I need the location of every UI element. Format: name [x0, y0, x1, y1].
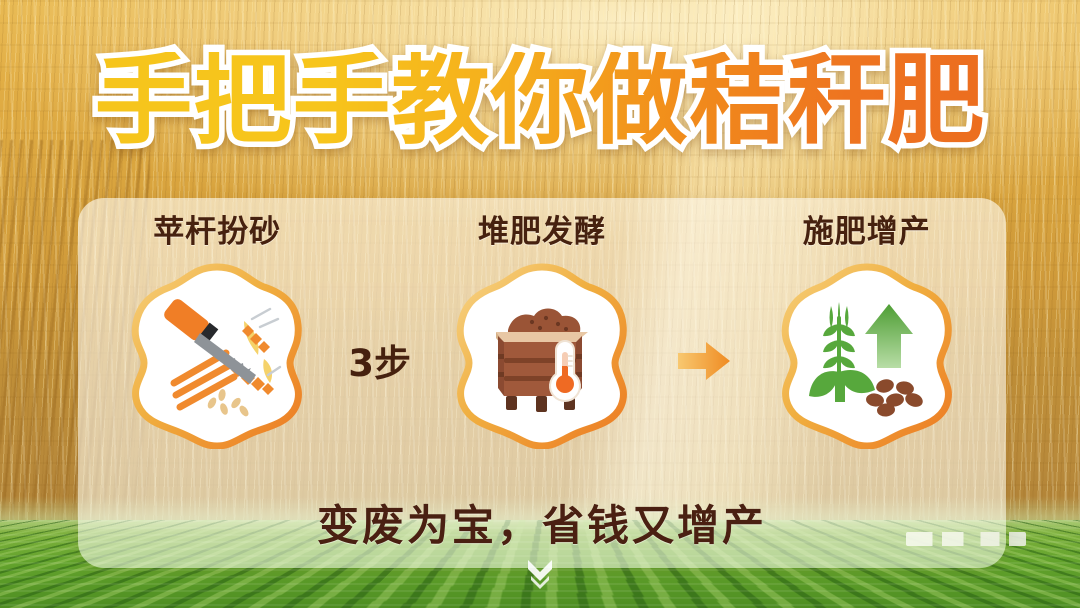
wheat-growth-arrow-seeds-icon: [801, 290, 933, 422]
step-item-compost-fermentation[interactable]: 堆肥发酵: [429, 206, 655, 449]
page-title: 手把手教你做秸秆肥: [0, 52, 1080, 152]
slogan-text: 变废为宝，省钱又增产: [78, 492, 1006, 553]
poster-canvas: 手把手教你做秸秆肥 手把手教你做秸秆肥 苹杆扮砂: [0, 0, 1080, 608]
step-item-straw-shredding[interactable]: 苹杆扮砂: [104, 206, 330, 449]
page-title-text: 手把手教你做秸秆肥: [94, 52, 985, 152]
compost-bin-thermometer-icon: [478, 292, 606, 420]
step-label-2: 堆肥发酵: [478, 206, 606, 251]
step-label-3: 施肥增产: [803, 206, 931, 251]
steps-row: 苹杆扮砂: [78, 198, 1006, 498]
step-icon-badge-3: [774, 263, 960, 449]
step-label-1: 苹杆扮砂: [153, 206, 281, 251]
step-icon-badge-1: [124, 263, 310, 449]
saw-cutting-straw-icon: [152, 291, 282, 421]
step-item-fertilize-yield[interactable]: 施肥增产: [754, 206, 980, 449]
step-count-label: 3步: [348, 333, 411, 387]
connector-step-count: 3步: [330, 206, 428, 506]
step-icon-badge-2: [449, 263, 635, 449]
right-arrow-icon: [676, 339, 732, 383]
double-chevron-down-icon[interactable]: [523, 556, 557, 590]
connector-arrow: [655, 206, 753, 506]
